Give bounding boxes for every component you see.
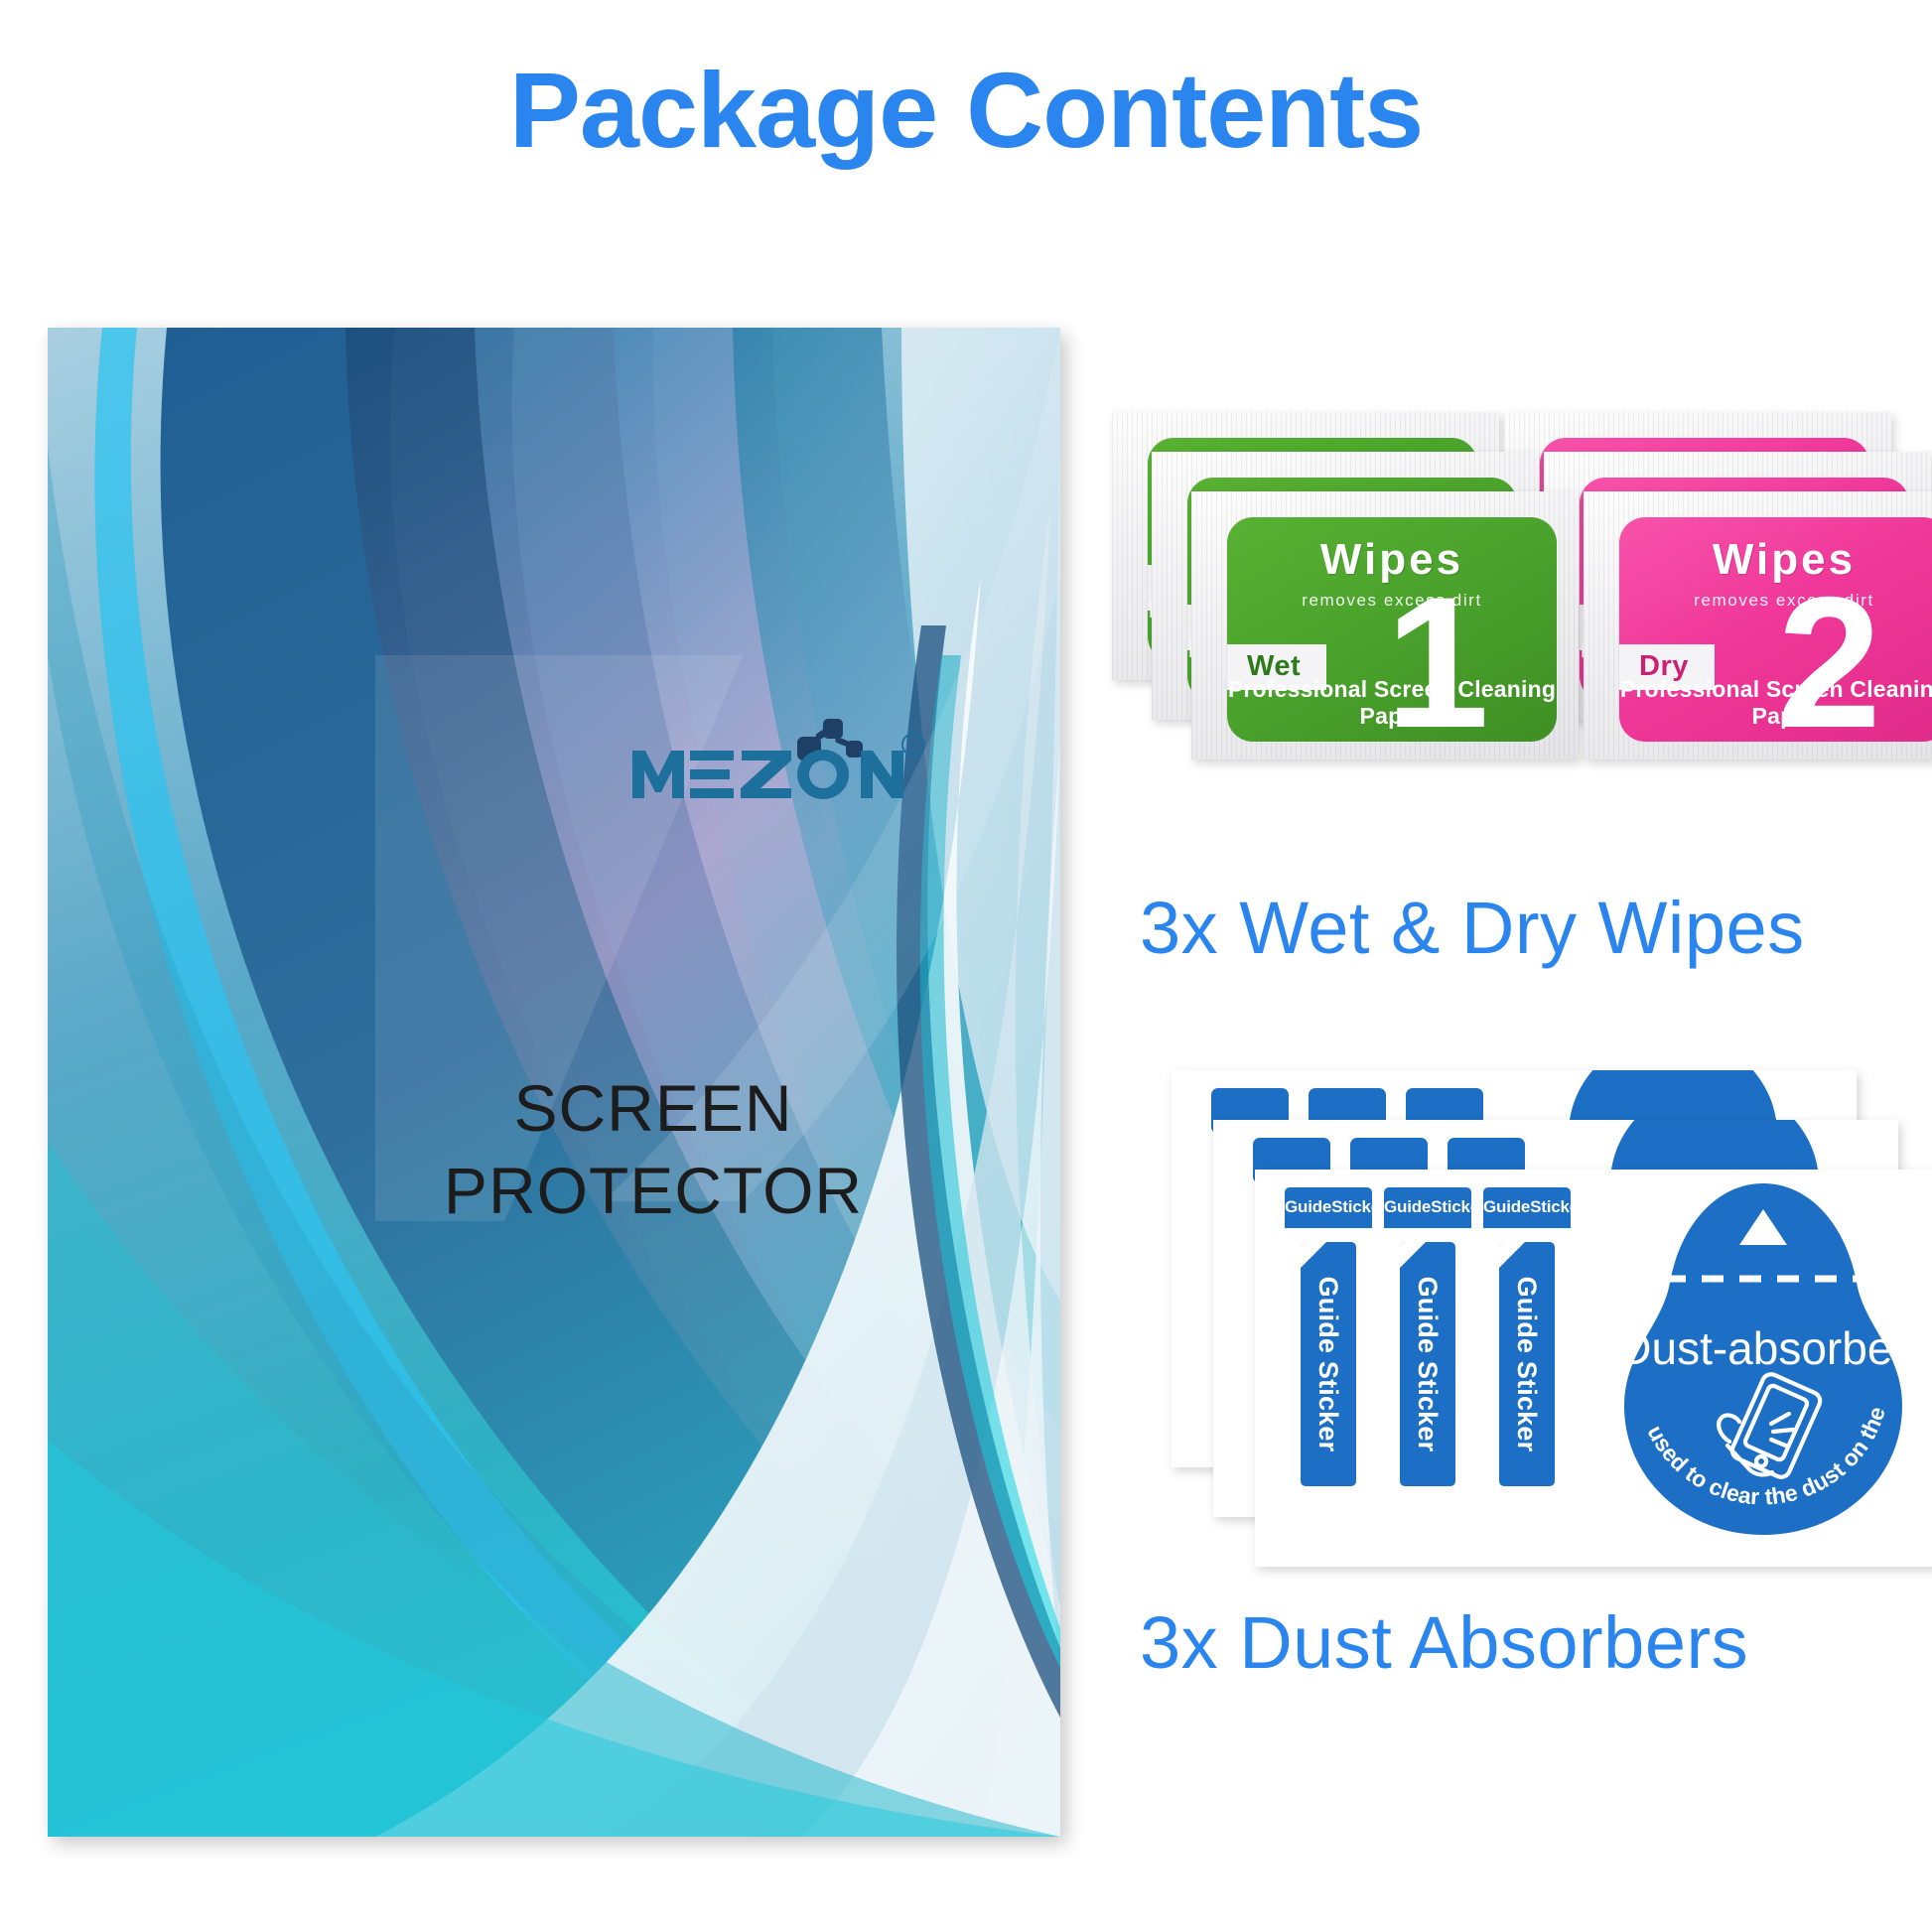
- mezon-logo: R: [628, 717, 926, 808]
- dust-absorber-sheet-front: GuideSticker Guide Sticker GuideSticker …: [1255, 1170, 1932, 1567]
- wipe-footer: Professional Screen Cleaning Paper: [1227, 676, 1557, 730]
- dust-absorber-sticker: Dust-absorber used to clear the dust on …: [1604, 1175, 1922, 1543]
- guide-sticker-body-label: Guide Sticker: [1499, 1242, 1555, 1486]
- dust-absorbers-group: GuideSticker Guide Sticker GuideSticker …: [1172, 1070, 1932, 1567]
- package-contents-page: Package Contents: [0, 0, 1932, 1932]
- dust-absorber-title-text: Dust-absorber: [1618, 1322, 1907, 1374]
- wipe-panel-green: Wipes removes excess dirt 1 Wet Professi…: [1227, 517, 1557, 742]
- wipe-sachet-dry-front: Wipes removes excess dirt 2 Dry Professi…: [1584, 491, 1932, 759]
- guide-sticker-tab-label: GuideSticker: [1285, 1187, 1372, 1228]
- package-title-line-2: PROTECTOR: [375, 1150, 931, 1232]
- screen-protector-package-box: R SCREEN PROTECTOR High quality professi…: [48, 328, 1060, 1837]
- guide-sticker-tab-label: GuideSticker: [1483, 1187, 1571, 1228]
- wipe-footer: Professional Screen Cleaning Paper: [1619, 676, 1932, 730]
- package-product-title: SCREEN PROTECTOR: [375, 1067, 931, 1232]
- mezon-wordmark: [632, 750, 903, 799]
- guide-sticker-body-label: Guide Sticker: [1400, 1242, 1455, 1486]
- page-title: Package Contents: [0, 52, 1932, 170]
- guide-sticker-body-label: Guide Sticker: [1301, 1242, 1356, 1486]
- guide-sticker-3: GuideSticker Guide Sticker: [1483, 1187, 1571, 1486]
- wipe-sachet-wet-front: Wipes removes excess dirt 1 Wet Professi…: [1191, 491, 1579, 759]
- wipe-panel-pink: Wipes removes excess dirt 2 Dry Professi…: [1619, 517, 1932, 742]
- guide-sticker-tab-label: GuideSticker: [1384, 1187, 1471, 1228]
- guide-sticker-2: GuideSticker Guide Sticker: [1384, 1187, 1471, 1486]
- guide-sticker-1: GuideSticker Guide Sticker: [1285, 1187, 1372, 1486]
- wipe-title: Wipes: [1619, 535, 1932, 585]
- guide-sticker-strip: Guide Sticker: [1301, 1242, 1356, 1486]
- dust-absorbers-caption: 3x Dust Absorbers: [1140, 1600, 1748, 1685]
- wipe-subtitle: removes excess dirt: [1619, 591, 1932, 611]
- svg-text:R: R: [909, 738, 918, 753]
- guide-sticker-strip: Guide Sticker: [1499, 1242, 1555, 1486]
- wipes-caption: 3x Wet & Dry Wipes: [1140, 886, 1805, 970]
- guide-sticker-strip: Guide Sticker: [1400, 1242, 1455, 1486]
- package-title-line-1: SCREEN: [375, 1067, 931, 1150]
- wet-dry-wipes-group: Wipes removes excess dirt 1 Wet Professi…: [1112, 412, 1932, 740]
